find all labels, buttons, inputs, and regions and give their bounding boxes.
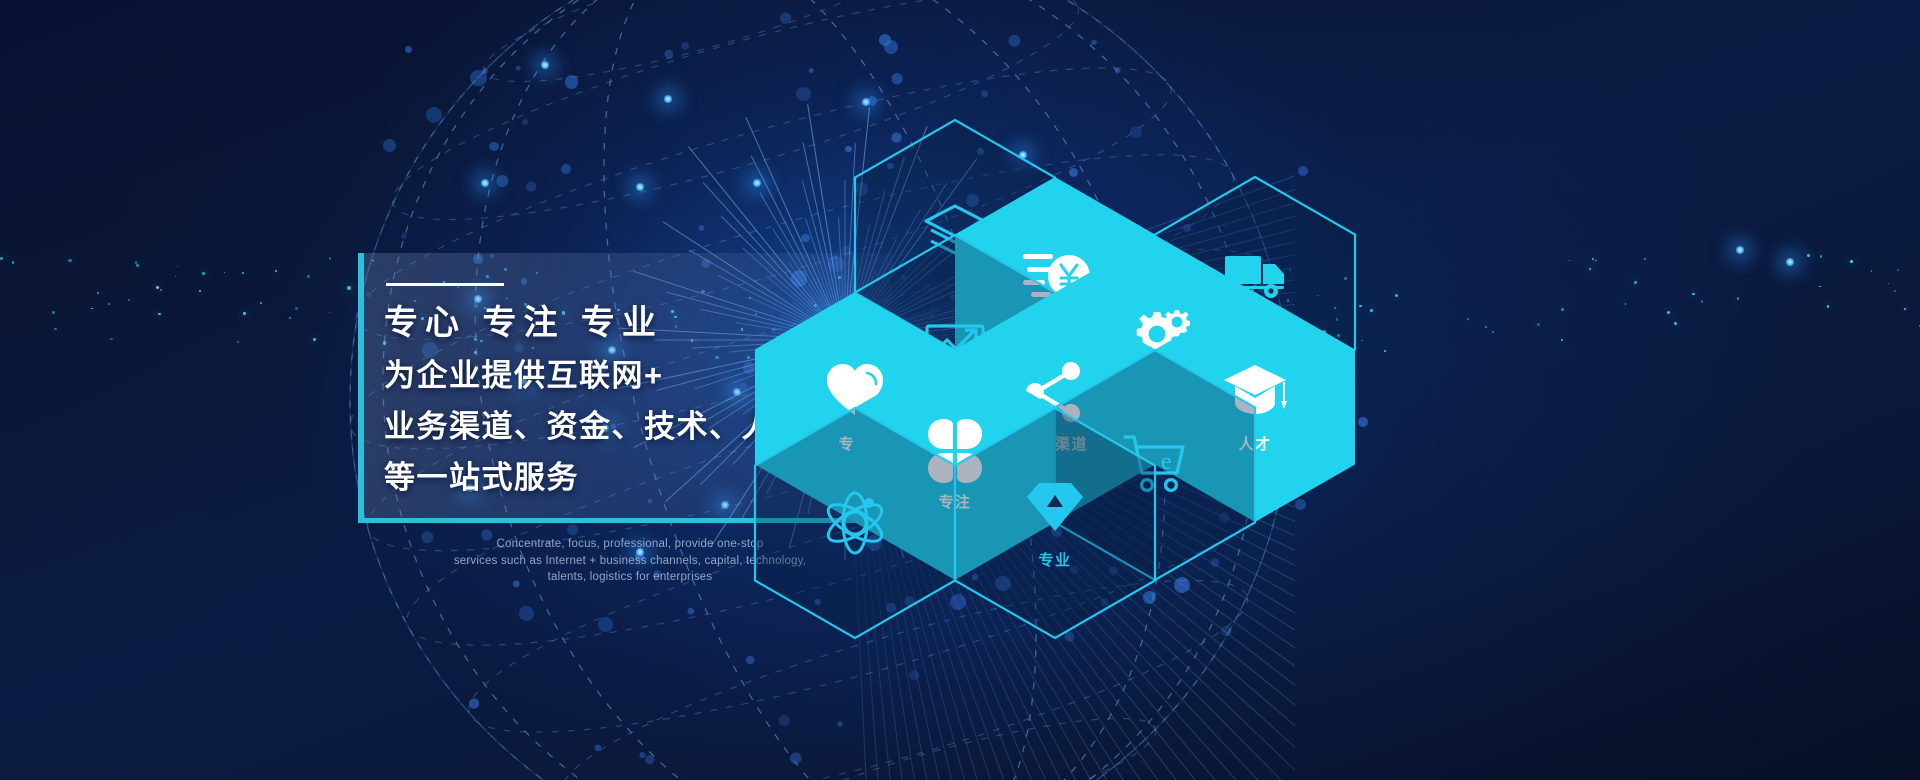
hexagon-cluster: 资金 物流 技术 专心 xyxy=(0,0,1920,780)
hero-banner: 专心 专注 专业 为企业提供互联网+ 业务渠道、资金、技术、人才、物流 等一站式… xyxy=(0,0,1920,780)
hexagon-atom[interactable] xyxy=(755,408,955,638)
hexagon-professional[interactable]: 专业 xyxy=(955,408,1155,638)
diamond-icon xyxy=(955,477,1155,541)
svg-text:e: e xyxy=(1161,449,1172,475)
hexagon-label-professional: 专业 xyxy=(955,549,1155,570)
atom-icon xyxy=(755,491,955,555)
